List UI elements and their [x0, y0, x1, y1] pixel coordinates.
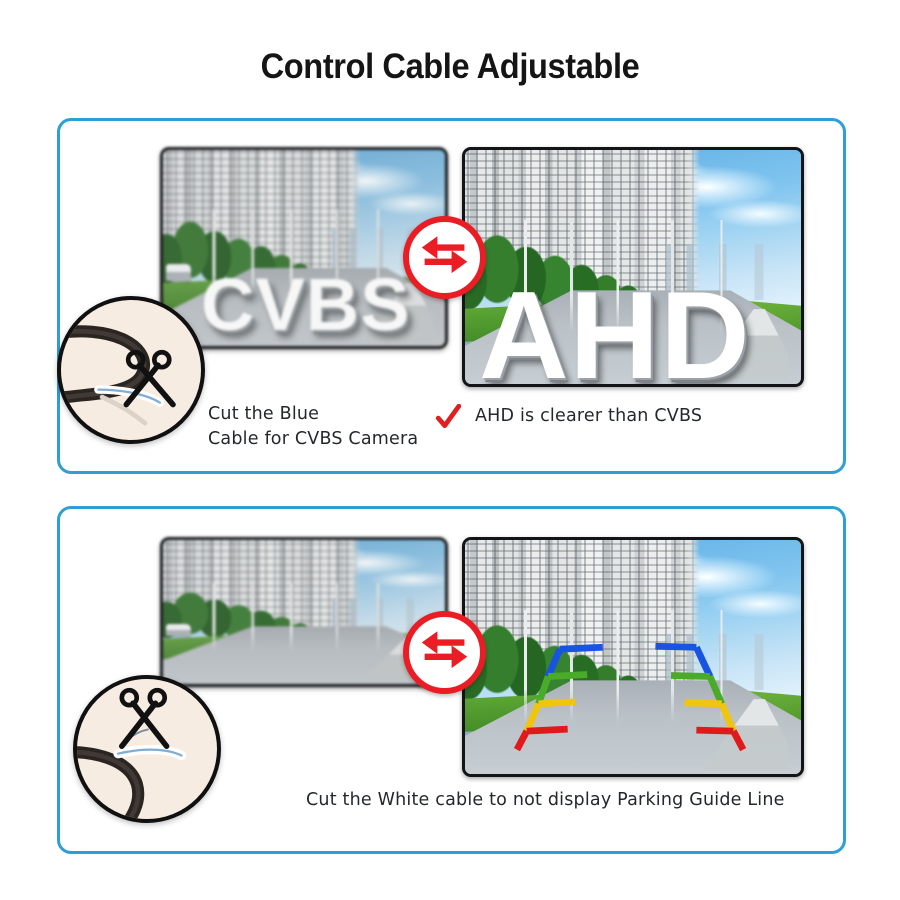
parking-guide-lines [465, 540, 801, 774]
parked-car [166, 624, 191, 637]
arrow-left-head [422, 631, 438, 654]
parked-car [166, 264, 191, 282]
swap-arrows-icon [409, 222, 480, 293]
card-parking-guide-line: Cut the White cable to not display Parki… [57, 506, 846, 854]
scissors-icon [122, 690, 167, 746]
light-poles-layer [186, 583, 429, 652]
cut-white-cable-caption: Cut the White cable to not display Parki… [306, 788, 785, 813]
arrow-left-head [422, 236, 438, 259]
wire-shadow [102, 397, 145, 423]
ahd-clearer-caption: AHD is clearer than CVBS [475, 404, 702, 429]
arrow-right-head [452, 250, 468, 273]
panel-guideline-preview [462, 537, 804, 777]
panel-label-ahd: AHD [479, 274, 751, 387]
swap-badge [403, 611, 486, 694]
card-cvbs-vs-ahd: CVBS AHD [57, 118, 846, 474]
arrow-right-head [452, 645, 468, 668]
cable-jacket [77, 752, 138, 819]
infographic-page: Control Cable Adjustable CVBS [0, 0, 900, 900]
panel-label-cvbs: CVBS [201, 268, 411, 342]
swap-arrows-icon [409, 617, 480, 688]
cable-closeup-white [73, 675, 221, 823]
swap-badge [403, 216, 486, 299]
page-title: Control Cable Adjustable [32, 47, 869, 87]
cut-blue-cable-caption: Cut the Blue Cable for CVBS Camera [208, 402, 418, 452]
cable-closeup-blue [57, 296, 205, 444]
cable-and-scissors-illustration [61, 300, 201, 440]
panel-ahd-preview: AHD [462, 147, 804, 387]
cable-and-scissors-illustration [77, 679, 217, 819]
check-icon [435, 404, 461, 430]
